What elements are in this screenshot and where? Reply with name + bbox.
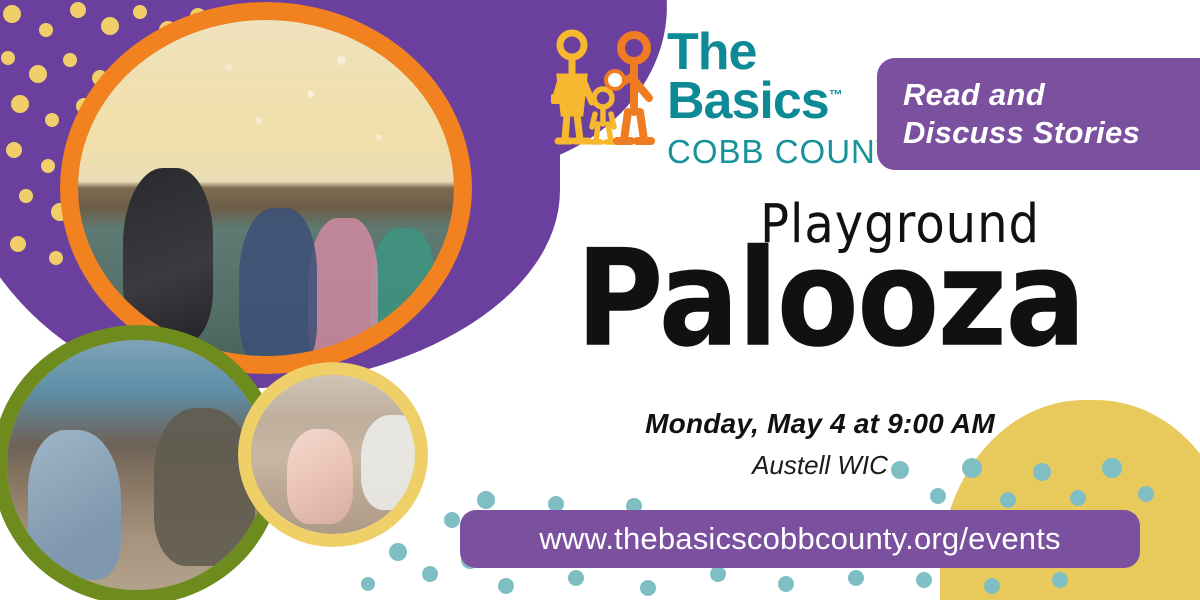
confetti-dot (39, 23, 53, 37)
confetti-dot (444, 512, 460, 528)
confetti-dot (361, 577, 375, 591)
confetti-dot (1, 51, 15, 65)
baby-photo-ring (238, 362, 428, 547)
confetti-dot (63, 53, 77, 67)
website-url-text: www.thebasicscobbcounty.org/events (539, 521, 1060, 557)
confetti-dot (710, 566, 726, 582)
the-basics-cobb-county-logo: The Basics™ COBB COUNTY (545, 28, 920, 171)
baby-with-toys-photo (238, 362, 428, 547)
classroom-bubbles-photo (60, 2, 472, 374)
topic-badge: Read and Discuss Stories (877, 58, 1200, 170)
confetti-dot (778, 576, 794, 592)
confetti-dot (11, 95, 29, 113)
confetti-dot (1070, 490, 1086, 506)
event-date: Monday, May 4 at 9:00 AM (540, 408, 1100, 440)
confetti-dot (1000, 492, 1016, 508)
confetti-dot (848, 570, 864, 586)
page-title: Palooza (530, 233, 1130, 367)
confetti-dot (477, 491, 495, 509)
confetti-dot (3, 5, 21, 23)
confetti-dot (930, 488, 946, 504)
confetti-dot (41, 159, 55, 173)
confetti-dot (498, 578, 514, 594)
confetti-dot (640, 580, 656, 596)
confetti-dot (49, 251, 63, 265)
confetti-dot (916, 572, 932, 588)
trademark-symbol: ™ (829, 87, 842, 103)
badge-line-1: Read and (903, 76, 1200, 114)
confetti-dot (422, 566, 438, 582)
confetti-dot (1052, 572, 1068, 588)
confetti-dot (389, 543, 407, 561)
confetti-dot (1138, 486, 1154, 502)
confetti-dot (568, 570, 584, 586)
badge-line-2: Discuss Stories (903, 114, 1200, 152)
family-figures-icon (545, 28, 657, 160)
confetti-dot (10, 236, 26, 252)
confetti-dot (1102, 458, 1122, 478)
confetti-dot (29, 65, 47, 83)
confetti-dot (6, 142, 22, 158)
confetti-dot (45, 113, 59, 127)
confetti-dot (19, 189, 33, 203)
confetti-dot (133, 5, 147, 19)
confetti-dot (70, 2, 86, 18)
classroom-photo-ring (60, 2, 472, 374)
event-flyer: The Basics™ COBB COUNTY Read and Discuss… (0, 0, 1200, 600)
event-venue: Austell WIC (540, 450, 1100, 481)
confetti-dot (984, 578, 1000, 594)
website-url-bar[interactable]: www.thebasicscobbcounty.org/events (460, 510, 1140, 568)
